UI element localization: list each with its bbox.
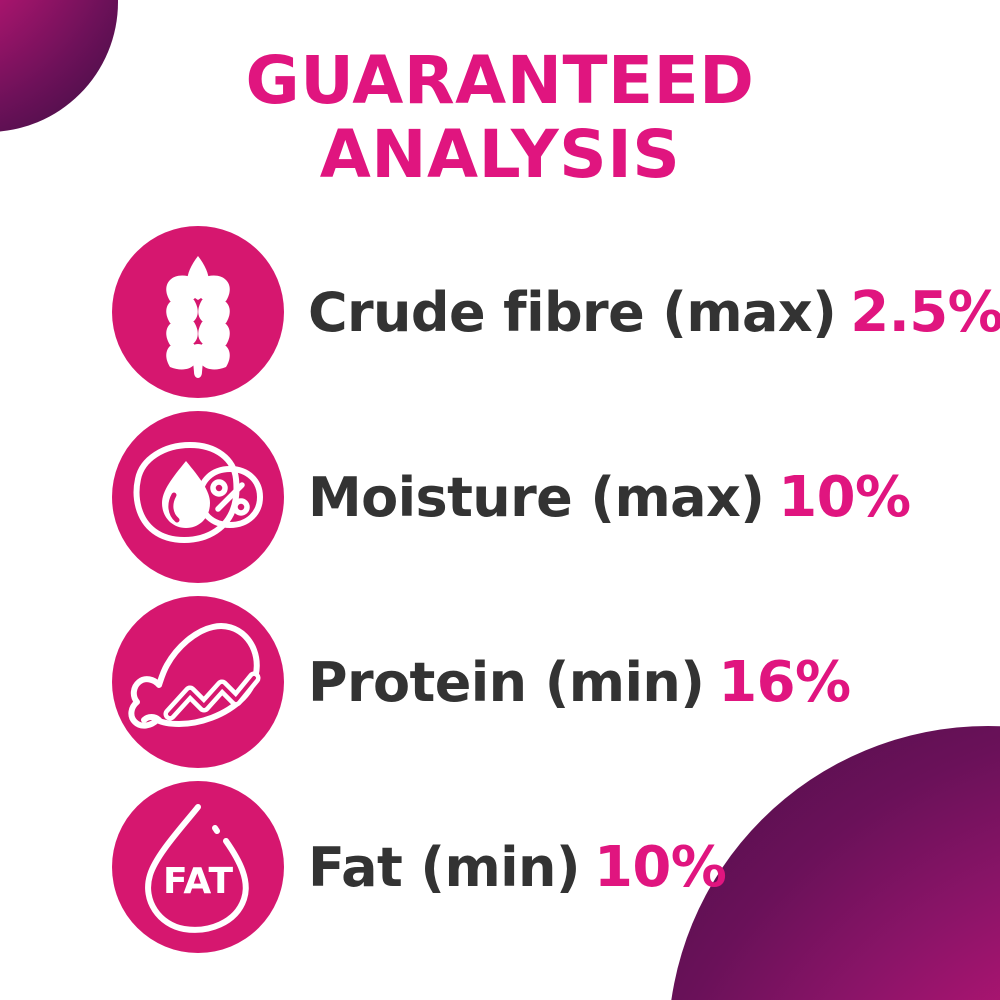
list-item-value: 16%	[718, 650, 850, 715]
list-item: FAT Fat (min) 10%	[0, 781, 1000, 966]
list-item-text: Crude fibre (max) 2.5%	[308, 226, 1000, 398]
list-item: Protein (min) 16%	[0, 596, 1000, 781]
list-item-value: 10%	[778, 465, 910, 530]
list-item: Crude fibre (max) 2.5%	[0, 226, 1000, 411]
list-item: Moisture (max) 10%	[0, 411, 1000, 596]
list-item-label: Moisture (max)	[308, 466, 764, 529]
list-item-label: Protein (min)	[308, 651, 704, 714]
list-item-text: Protein (min) 16%	[308, 596, 851, 768]
guaranteed-analysis-poster: GUARANTEED ANALYSIS	[0, 0, 1000, 1000]
list-item-value: 10%	[594, 835, 726, 900]
page-title: GUARANTEED ANALYSIS	[0, 44, 1000, 192]
list-item-value: 2.5%	[850, 280, 1000, 345]
list-item-label: Fat (min)	[308, 836, 580, 899]
page-title-line-2: ANALYSIS	[0, 118, 1000, 192]
page-title-line-1: GUARANTEED	[0, 44, 1000, 118]
analysis-list: Crude fibre (max) 2.5%	[0, 226, 1000, 966]
list-item-label: Crude fibre (max)	[308, 281, 836, 344]
wheat-icon	[112, 226, 284, 398]
fat-droplet-icon: FAT	[112, 781, 284, 953]
list-item-text: Fat (min) 10%	[308, 781, 726, 953]
protein-drumstick-icon	[112, 596, 284, 768]
moisture-droplet-percent-icon	[112, 411, 284, 583]
fat-icon-label: FAT	[163, 861, 234, 902]
list-item-text: Moisture (max) 10%	[308, 411, 911, 583]
